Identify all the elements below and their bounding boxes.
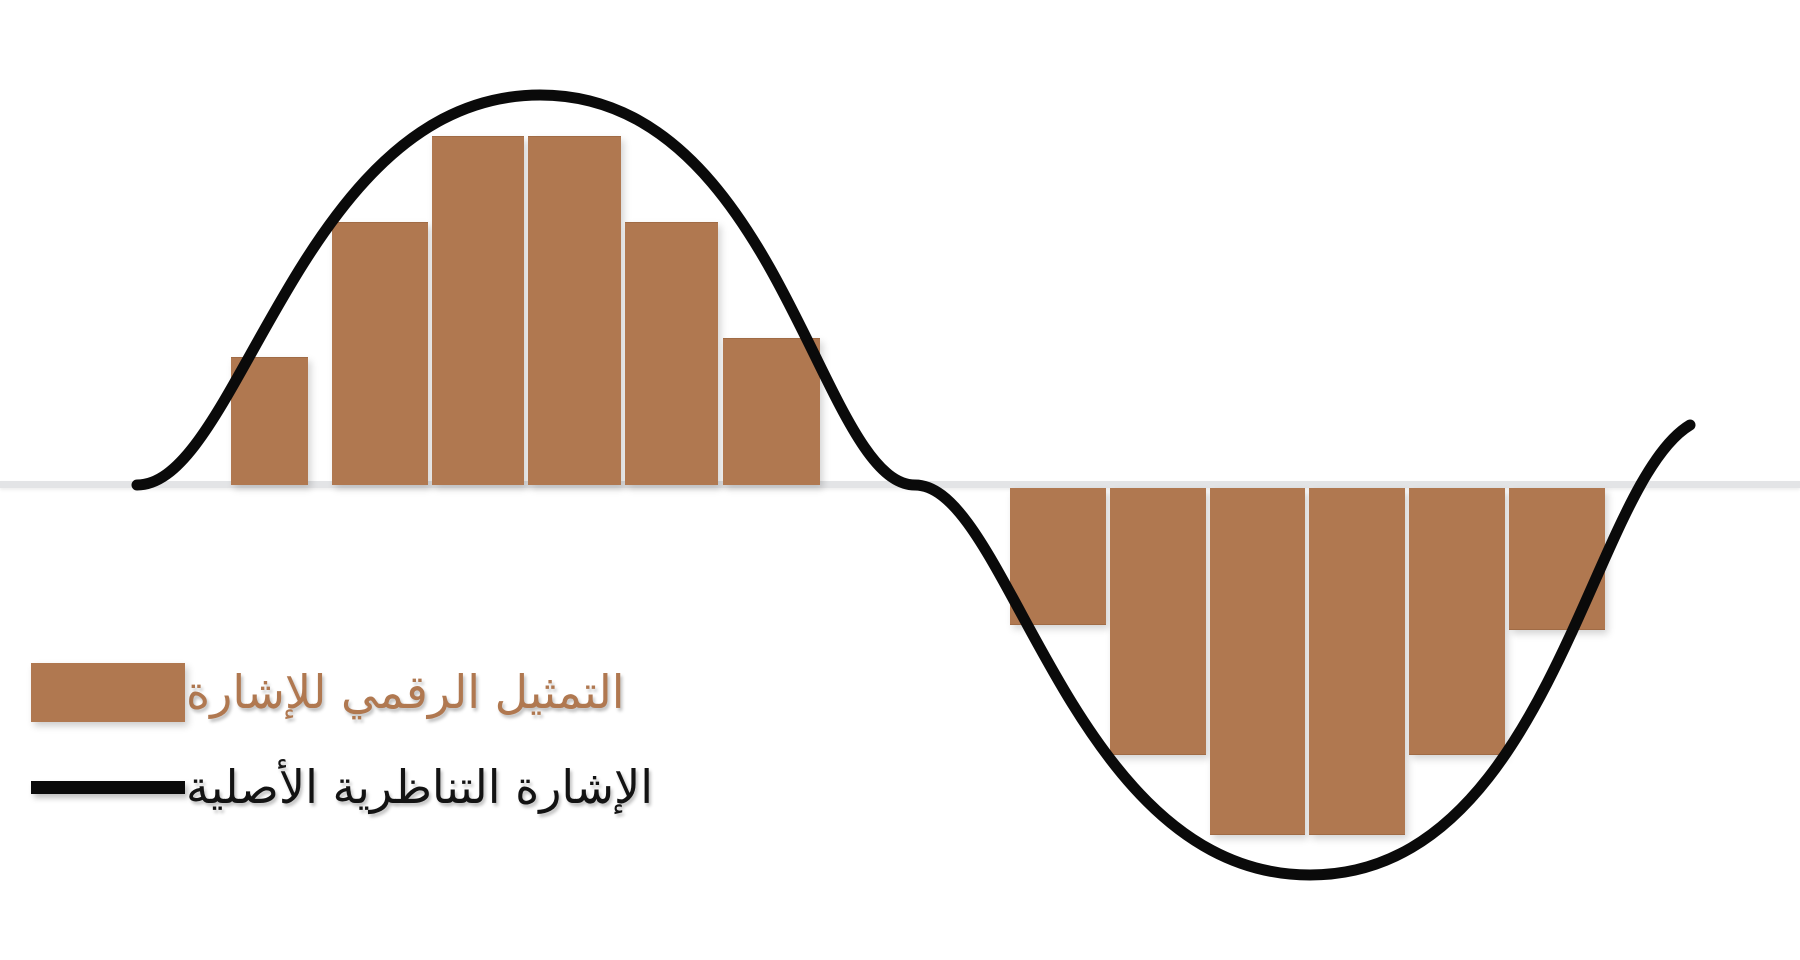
legend-label-digital: التمثيل الرقمي للإشارة [186, 668, 637, 716]
sample-bar [1110, 488, 1206, 755]
legend: التمثيل الرقمي للإشارة الإشارة التناظرية… [30, 645, 830, 835]
sample-bar [332, 222, 428, 485]
signal-chart-figure: التمثيل الرقمي للإشارة الإشارة التناظرية… [0, 0, 1800, 960]
sample-bar [231, 357, 308, 485]
legend-item-digital[interactable]: التمثيل الرقمي للإشارة [30, 645, 830, 740]
sample-bar [1509, 488, 1605, 630]
sample-bar [432, 136, 524, 485]
legend-label-analog: الإشارة التناظرية الأصلية [186, 763, 665, 811]
line-swatch-icon [30, 781, 186, 794]
bar-swatch-icon [30, 663, 186, 722]
sample-bar [1210, 488, 1305, 835]
sample-bar [1409, 488, 1505, 755]
sample-bar [625, 222, 718, 485]
legend-item-analog[interactable]: الإشارة التناظرية الأصلية [30, 740, 830, 835]
sample-bar [1309, 488, 1405, 835]
sample-bar [528, 136, 621, 485]
sample-bar [1010, 488, 1106, 625]
sample-bar [723, 338, 820, 485]
